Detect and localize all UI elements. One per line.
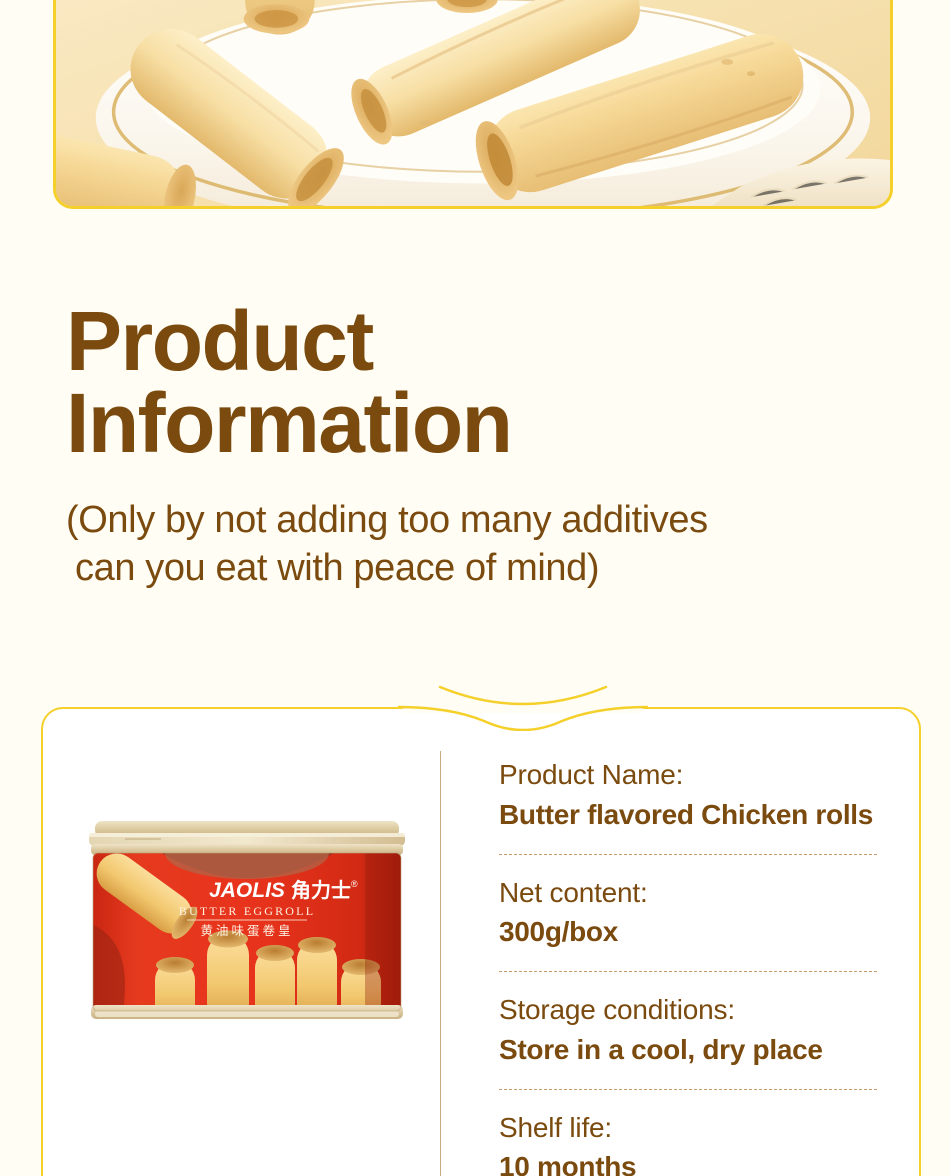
spec-row-storage-conditions: Storage conditions: Store in a cool, dry…: [499, 990, 919, 1070]
card-inner: JAOLIS 角力士 ® BUTTER EGGROLL 黄油味蛋卷皇: [43, 709, 919, 1176]
spec-separator: [499, 854, 877, 855]
page-title-line-1: Product: [66, 300, 826, 382]
spec-separator: [499, 1089, 877, 1090]
product-image-panel: JAOLIS 角力士 ® BUTTER EGGROLL 黄油味蛋卷皇: [43, 709, 440, 1176]
svg-text:黄油味蛋卷皇: 黄油味蛋卷皇: [200, 923, 293, 938]
hero-photo-illustration: [56, 0, 890, 206]
page-title-line-2: Information: [66, 382, 826, 464]
page-title: Product Information: [66, 300, 826, 465]
product-information-card: JAOLIS 角力士 ® BUTTER EGGROLL 黄油味蛋卷皇: [41, 707, 921, 1176]
svg-text:®: ®: [351, 879, 358, 889]
spec-list: Product Name: Butter flavored Chicken ro…: [441, 709, 919, 1176]
spec-row-shelf-life: Shelf life: 10 months: [499, 1108, 919, 1176]
spec-separator: [499, 971, 877, 972]
spec-value: Store in a cool, dry place: [499, 1030, 919, 1070]
product-tin-image: JAOLIS 角力士 ® BUTTER EGGROLL 黄油味蛋卷皇: [79, 815, 415, 1045]
spec-row-net-content: Net content: 300g/box: [499, 873, 919, 953]
spec-value: 10 months: [499, 1147, 919, 1176]
spec-label: Net content:: [499, 873, 919, 913]
svg-text:BUTTER EGGROLL: BUTTER EGGROLL: [179, 904, 315, 918]
spec-row-product-name: Product Name: Butter flavored Chicken ro…: [499, 755, 919, 835]
svg-text:JAOLIS: JAOLIS: [209, 879, 285, 902]
page-subtitle-line-2: can you eat with peace of mind): [66, 545, 826, 593]
spec-value: 300g/box: [499, 912, 919, 952]
page-subtitle-line-1: (Only by not adding too many additives: [66, 497, 826, 545]
product-tin-illustration: JAOLIS 角力士 ® BUTTER EGGROLL 黄油味蛋卷皇: [79, 815, 415, 1045]
page-subtitle: (Only by not adding too many additives c…: [66, 497, 826, 593]
spec-label: Shelf life:: [499, 1108, 919, 1148]
heading-block: Product Information (Only by not adding …: [66, 300, 826, 592]
hero-product-photo: [53, 0, 893, 209]
spec-label: Product Name:: [499, 755, 919, 795]
svg-text:角力士: 角力士: [291, 878, 351, 902]
spec-value: Butter flavored Chicken rolls: [499, 795, 919, 835]
spec-label: Storage conditions:: [499, 990, 919, 1030]
